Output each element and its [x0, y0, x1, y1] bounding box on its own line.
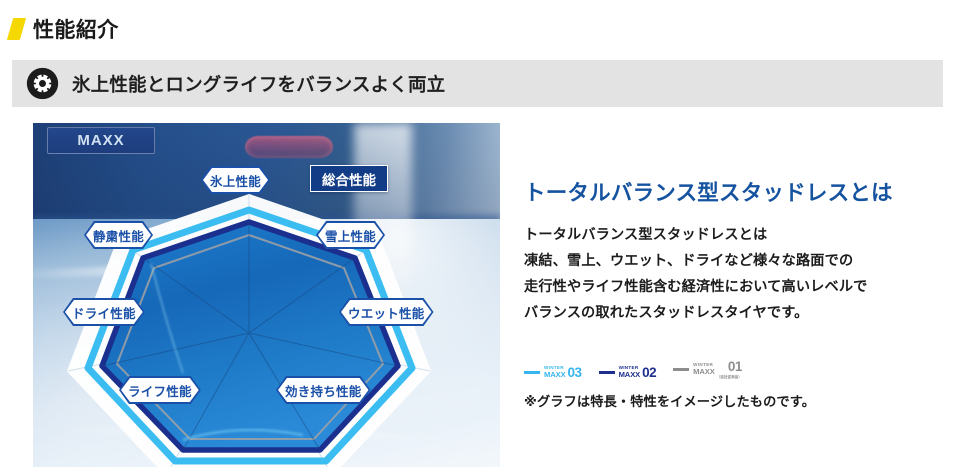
radar-label-ice: 氷上性能 — [203, 168, 268, 192]
legend-logo-03: WINTER MAXX 03 — [544, 365, 582, 380]
subtitle-bar: 氷上性能とロングライフをバランスよく両立 — [12, 60, 943, 107]
page-title: 性能紹介 — [33, 14, 119, 44]
section-title: 性能紹介 — [10, 14, 119, 44]
subtitle-text: 氷上性能とロングライフをバランスよく両立 — [72, 71, 445, 97]
legend-dash-02-icon — [599, 371, 615, 374]
legend-number-01: 01 — [728, 359, 742, 374]
legend-number-03: 03 — [568, 365, 582, 380]
legend-item-01: WINTER MAXX 01 （自社従来品） — [673, 359, 742, 380]
legend-dash-01-icon — [673, 368, 689, 371]
radar-label-durability: 効き持ち性能 — [278, 378, 369, 402]
chart-legend: WINTER MAXX 03 WINTER MAXX 02 — [524, 359, 944, 380]
radar-series-02 — [102, 222, 398, 450]
legend-number-02: 02 — [642, 365, 656, 380]
radar-chart-panel: MAXX — [33, 123, 500, 467]
title-slash-icon — [7, 18, 26, 40]
radar-label-snow: 雪上性能 — [318, 223, 383, 247]
description-line: 走行性やライフ性能含む経済性において高いレベルで — [524, 275, 944, 301]
description-line: 凍結、雪上、ウエット、ドライなど様々な路面での — [524, 249, 944, 275]
legend-brand-line2: MAXX — [544, 371, 566, 379]
chart-note: ※グラフは特長・特性をイメージしたものです。 — [524, 391, 944, 410]
description-heading: トータルバランス型スタッドレスとは — [524, 176, 944, 207]
description-line: バランスの取れたスタッドレスタイヤです。 — [524, 301, 944, 327]
legend-sub-01: （自社従来品） — [717, 375, 742, 380]
radar-label-dry: ドライ性能 — [65, 300, 143, 324]
description-panel: トータルバランス型スタッドレスとは トータルバランス型スタッドレスとは 凍結、雪… — [524, 123, 944, 467]
radar-label-quiet: 静粛性能 — [86, 223, 151, 247]
legend-brand-line2: MAXX — [619, 371, 641, 379]
legend-item-02: WINTER MAXX 02 — [599, 365, 657, 380]
radar-label-life: ライフ性能 — [121, 378, 199, 402]
legend-brand-line2: MAXX — [693, 368, 715, 376]
legend-logo-02: WINTER MAXX 02 — [619, 365, 657, 380]
legend-dash-03-icon — [524, 371, 540, 374]
radar-label-total: 総合性能 — [310, 165, 388, 192]
legend-item-03: WINTER MAXX 03 — [524, 365, 582, 380]
description-body: トータルバランス型スタッドレスとは 凍結、雪上、ウエット、ドライなど様々な路面で… — [524, 223, 944, 327]
description-line: トータルバランス型スタッドレスとは — [524, 223, 944, 249]
tire-icon — [26, 67, 59, 100]
main-content: MAXX — [0, 123, 955, 467]
radar-label-wet: ウエット性能 — [341, 300, 432, 324]
performance-section-page: 性能紹介 氷上性能とロングライフをバランスよく両立 — [0, 0, 955, 467]
legend-logo-01: WINTER MAXX 01 （自社従来品） — [693, 359, 742, 380]
